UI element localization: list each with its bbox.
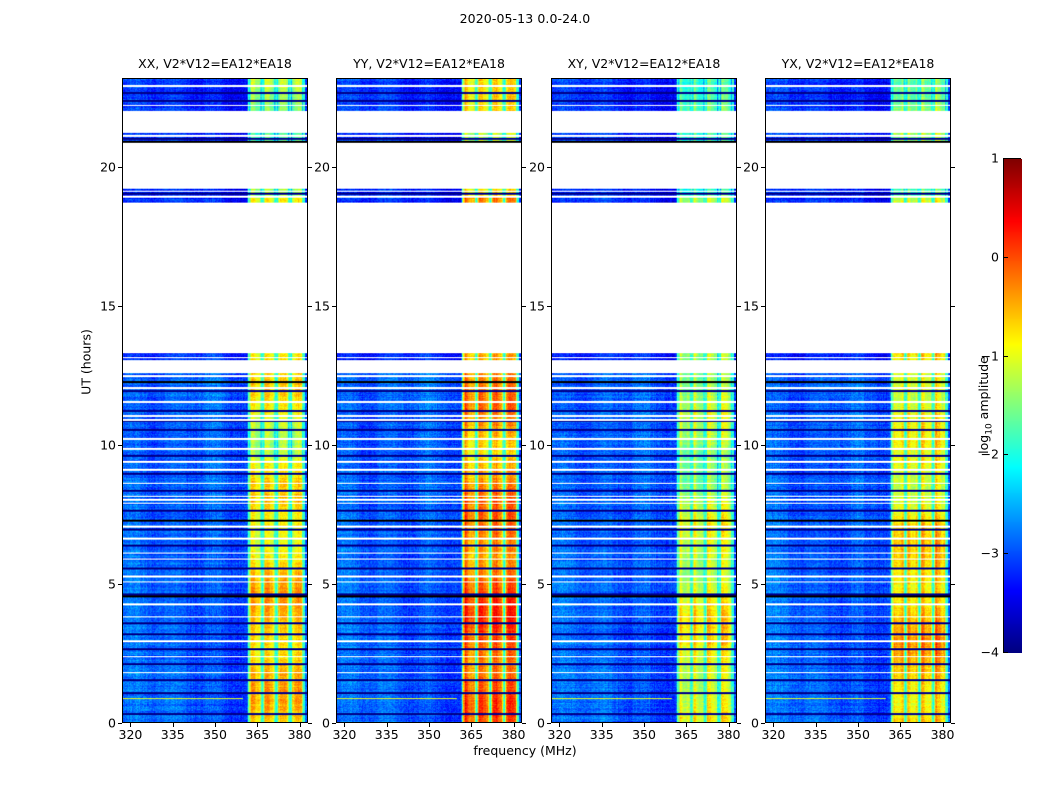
x-tickmark [300, 723, 301, 727]
y-tickmark [332, 167, 336, 168]
panel-title-xy: XY, V2*V12=EA12*EA18 [551, 56, 737, 71]
x-tick-365: 365 [459, 727, 483, 742]
x-tick-320: 320 [548, 727, 572, 742]
y-tickmark-right [522, 445, 526, 446]
colorbar-tick-neg3: −3 [981, 546, 999, 561]
y-tick-10: 10 [92, 437, 116, 452]
y-tickmark-right [737, 445, 741, 446]
x-tickmark [344, 723, 345, 727]
heatmap-panel-yy[interactable] [336, 78, 522, 723]
y-tickmark-right [737, 723, 741, 724]
colorbar-tickmark [1003, 652, 1008, 653]
colorbar-tick-1: 1 [991, 151, 999, 166]
y-tick-0: 0 [92, 716, 116, 731]
y-axis-ticklabels-xx: 20151050 [92, 0, 116, 800]
panel-title-xx: XX, V2*V12=EA12*EA18 [122, 56, 308, 71]
colorbar[interactable] [1003, 158, 1021, 652]
x-tick-380: 380 [931, 727, 955, 742]
x-tickmark [130, 723, 131, 727]
x-tickmark [602, 723, 603, 727]
x-tickmark [644, 723, 645, 727]
x-tick-380: 380 [288, 727, 312, 742]
x-tick-365: 365 [245, 727, 269, 742]
x-tickmark [773, 723, 774, 727]
y-tickmark [547, 167, 551, 168]
x-tickmark [471, 723, 472, 727]
y-tickmark-right [737, 584, 741, 585]
x-tickmark [816, 723, 817, 727]
x-tickmark [215, 723, 216, 727]
y-tickmark [761, 167, 765, 168]
x-tickmark [858, 723, 859, 727]
colorbar-tickmark [1003, 158, 1008, 159]
y-axis-label: UT (hours) [79, 329, 94, 395]
colorbar-label-main: log [976, 435, 991, 454]
heatmap-image-xy [552, 79, 736, 722]
heatmap-image-yy [337, 79, 521, 722]
y-tickmark [332, 445, 336, 446]
x-tick-320: 320 [333, 727, 357, 742]
y-tickmark-right [951, 723, 955, 724]
x-tick-335: 335 [804, 727, 828, 742]
figure-canvas: 2020-05-13 0.0-24.0 XX, V2*V12=EA12*EA18… [0, 0, 1050, 800]
y-tickmark-right [522, 723, 526, 724]
colorbar-label-sub: 10 [984, 423, 994, 434]
x-tick-350: 350 [203, 727, 227, 742]
heatmap-panel-xy[interactable] [551, 78, 737, 723]
x-tick-335: 335 [375, 727, 399, 742]
y-tickmark [761, 723, 765, 724]
y-tick-15: 15 [92, 298, 116, 313]
colorbar-gradient [1004, 159, 1022, 653]
heatmap-panel-yx[interactable] [765, 78, 951, 723]
x-tickmark [686, 723, 687, 727]
x-tick-365: 365 [888, 727, 912, 742]
heatmap-image-yx [766, 79, 950, 722]
colorbar-label: log10 amplitude [976, 356, 995, 454]
y-tickmark-right [522, 167, 526, 168]
x-tick-350: 350 [417, 727, 441, 742]
x-tickmark [943, 723, 944, 727]
heatmap-image-xx [123, 79, 307, 722]
x-tick-365: 365 [674, 727, 698, 742]
y-tickmark [547, 306, 551, 307]
y-tickmark [118, 445, 122, 446]
y-tickmark-right [951, 306, 955, 307]
x-tick-350: 350 [846, 727, 870, 742]
y-tickmark [118, 584, 122, 585]
colorbar-label-tail: amplitude [976, 356, 991, 423]
colorbar-tickmark [1003, 257, 1008, 258]
y-tickmark [332, 584, 336, 585]
x-tickmark [514, 723, 515, 727]
y-tickmark-right [522, 584, 526, 585]
y-tickmark-right [308, 723, 312, 724]
y-tickmark [761, 306, 765, 307]
x-tick-350: 350 [632, 727, 656, 742]
y-tickmark [332, 306, 336, 307]
y-tick-5: 5 [92, 576, 116, 591]
y-tickmark-right [522, 306, 526, 307]
y-axis-ticklabels-xy: 20151050 [521, 0, 545, 800]
x-tick-335: 335 [590, 727, 614, 742]
heatmap-panel-xx[interactable] [122, 78, 308, 723]
y-tickmark [547, 723, 551, 724]
y-tick-20: 20 [92, 159, 116, 174]
y-tickmark [547, 445, 551, 446]
y-tickmark [761, 445, 765, 446]
y-tickmark-right [737, 167, 741, 168]
x-tickmark [257, 723, 258, 727]
y-tickmark-right [951, 584, 955, 585]
y-tickmark [118, 167, 122, 168]
x-tick-380: 380 [717, 727, 741, 742]
y-tickmark [332, 723, 336, 724]
x-tickmark [729, 723, 730, 727]
x-tick-320: 320 [762, 727, 786, 742]
x-tickmark [387, 723, 388, 727]
colorbar-tickmark [1003, 356, 1008, 357]
colorbar-tick-0: 0 [991, 249, 999, 264]
panel-title-yx: YX, V2*V12=EA12*EA18 [765, 56, 951, 71]
panel-title-yy: YY, V2*V12=EA12*EA18 [336, 56, 522, 71]
x-tickmark [900, 723, 901, 727]
y-tickmark [118, 306, 122, 307]
x-tickmark [559, 723, 560, 727]
y-tickmark [761, 584, 765, 585]
y-tickmark-right [308, 167, 312, 168]
y-tickmark-right [951, 167, 955, 168]
y-axis-ticklabels-yy: 20151050 [306, 0, 330, 800]
y-tickmark-right [308, 445, 312, 446]
y-tickmark [118, 723, 122, 724]
x-tick-320: 320 [119, 727, 143, 742]
colorbar-tickmark [1003, 454, 1008, 455]
y-tickmark-right [308, 584, 312, 585]
y-tickmark-right [737, 306, 741, 307]
x-tickmark [429, 723, 430, 727]
x-tick-380: 380 [502, 727, 526, 742]
x-tick-335: 335 [161, 727, 185, 742]
y-tickmark-right [951, 445, 955, 446]
y-tickmark-right [308, 306, 312, 307]
colorbar-tick-neg4: −4 [981, 645, 999, 660]
x-tickmark [173, 723, 174, 727]
y-tickmark [547, 584, 551, 585]
colorbar-tickmark [1003, 553, 1008, 554]
x-axis-label: frequency (MHz) [0, 743, 1050, 758]
y-axis-ticklabels-yx: 20151050 [735, 0, 759, 800]
